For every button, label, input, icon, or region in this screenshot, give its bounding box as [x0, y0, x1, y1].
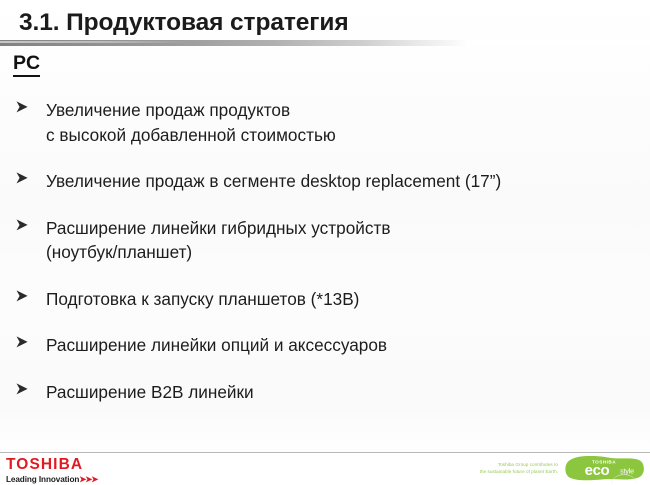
- eco-style-block: Toshiba Group contributes to the sustain…: [480, 456, 646, 481]
- list-item: Расширение линейки опций и аксессуаров: [13, 333, 650, 358]
- list-item: Подготовка к запуску планшетов (*13В): [13, 287, 650, 312]
- eco-claim-text: Toshiba Group contributes to the sustain…: [480, 462, 558, 475]
- presentation-slide: 3.1. Продуктовая стратегия PC Увеличение…: [0, 0, 650, 484]
- list-item-text: Расширение линейки опций и аксессуаров: [46, 333, 650, 358]
- eco-claim-line-2: the sustainable future of planet Earth.: [480, 469, 558, 475]
- list-item-line: Расширение B2B линейки: [46, 380, 650, 405]
- list-item: Увеличение продаж продуктов с высокой до…: [13, 98, 650, 147]
- chevron-bullet-icon: [14, 98, 36, 120]
- toshiba-logo: TOSHIBA Leading Innovation➤➤➤: [6, 457, 97, 485]
- chevron-bullet-icon: [14, 169, 36, 191]
- list-item-line: с высокой добавленной стоимостью: [46, 123, 650, 148]
- list-item-text: Расширение линейки гибридных устройств (…: [46, 216, 650, 265]
- list-item: Расширение линейки гибридных устройств (…: [13, 216, 650, 265]
- list-item-line: Расширение линейки опций и аксессуаров: [46, 333, 650, 358]
- list-item-text: Расширение B2B линейки: [46, 380, 650, 405]
- page-title: 3.1. Продуктовая стратегия: [0, 0, 650, 38]
- slide-footer: TOSHIBA Leading Innovation➤➤➤ Toshiba Gr…: [0, 453, 650, 484]
- title-divider-highlight: [0, 41, 190, 43]
- bullet-list: Увеличение продаж продуктов с высокой до…: [0, 98, 650, 404]
- slide-content: PC Увеличение продаж продуктов с высокой…: [0, 52, 650, 383]
- list-item-line: Увеличение продаж продуктов: [46, 98, 650, 123]
- list-item-line: Расширение линейки гибридных устройств: [46, 216, 650, 241]
- chevron-bullet-icon: [14, 333, 36, 355]
- list-item-text: Подготовка к запуску планшетов (*13В): [46, 287, 650, 312]
- chevron-bullet-icon: [14, 216, 36, 238]
- toshiba-wordmark: TOSHIBA: [6, 457, 97, 473]
- section-heading-wrap: PC: [0, 52, 650, 77]
- toshiba-tagline: Leading Innovation➤➤➤: [6, 474, 97, 485]
- svg-text:eco: eco: [585, 462, 610, 479]
- list-item: Увеличение продаж в сегменте desktop rep…: [13, 169, 650, 194]
- slide-title-block: 3.1. Продуктовая стратегия: [0, 0, 650, 38]
- list-item-line: Подготовка к запуску планшетов (*13В): [46, 287, 650, 312]
- chevron-bullet-icon: [14, 287, 36, 309]
- list-item-line: (ноутбук/планшет): [46, 240, 650, 265]
- list-item: Расширение B2B линейки: [13, 380, 650, 405]
- list-item-text: Увеличение продаж в сегменте desktop rep…: [46, 169, 650, 194]
- chevron-bullet-icon: [14, 380, 36, 402]
- section-heading-pc: PC: [13, 52, 40, 77]
- list-item-line: Увеличение продаж в сегменте desktop rep…: [46, 169, 650, 194]
- list-item-text: Увеличение продаж продуктов с высокой до…: [46, 98, 650, 147]
- toshiba-tagline-text: Leading Innovation: [6, 475, 79, 484]
- triple-chevron-icon: ➤➤➤: [79, 474, 97, 484]
